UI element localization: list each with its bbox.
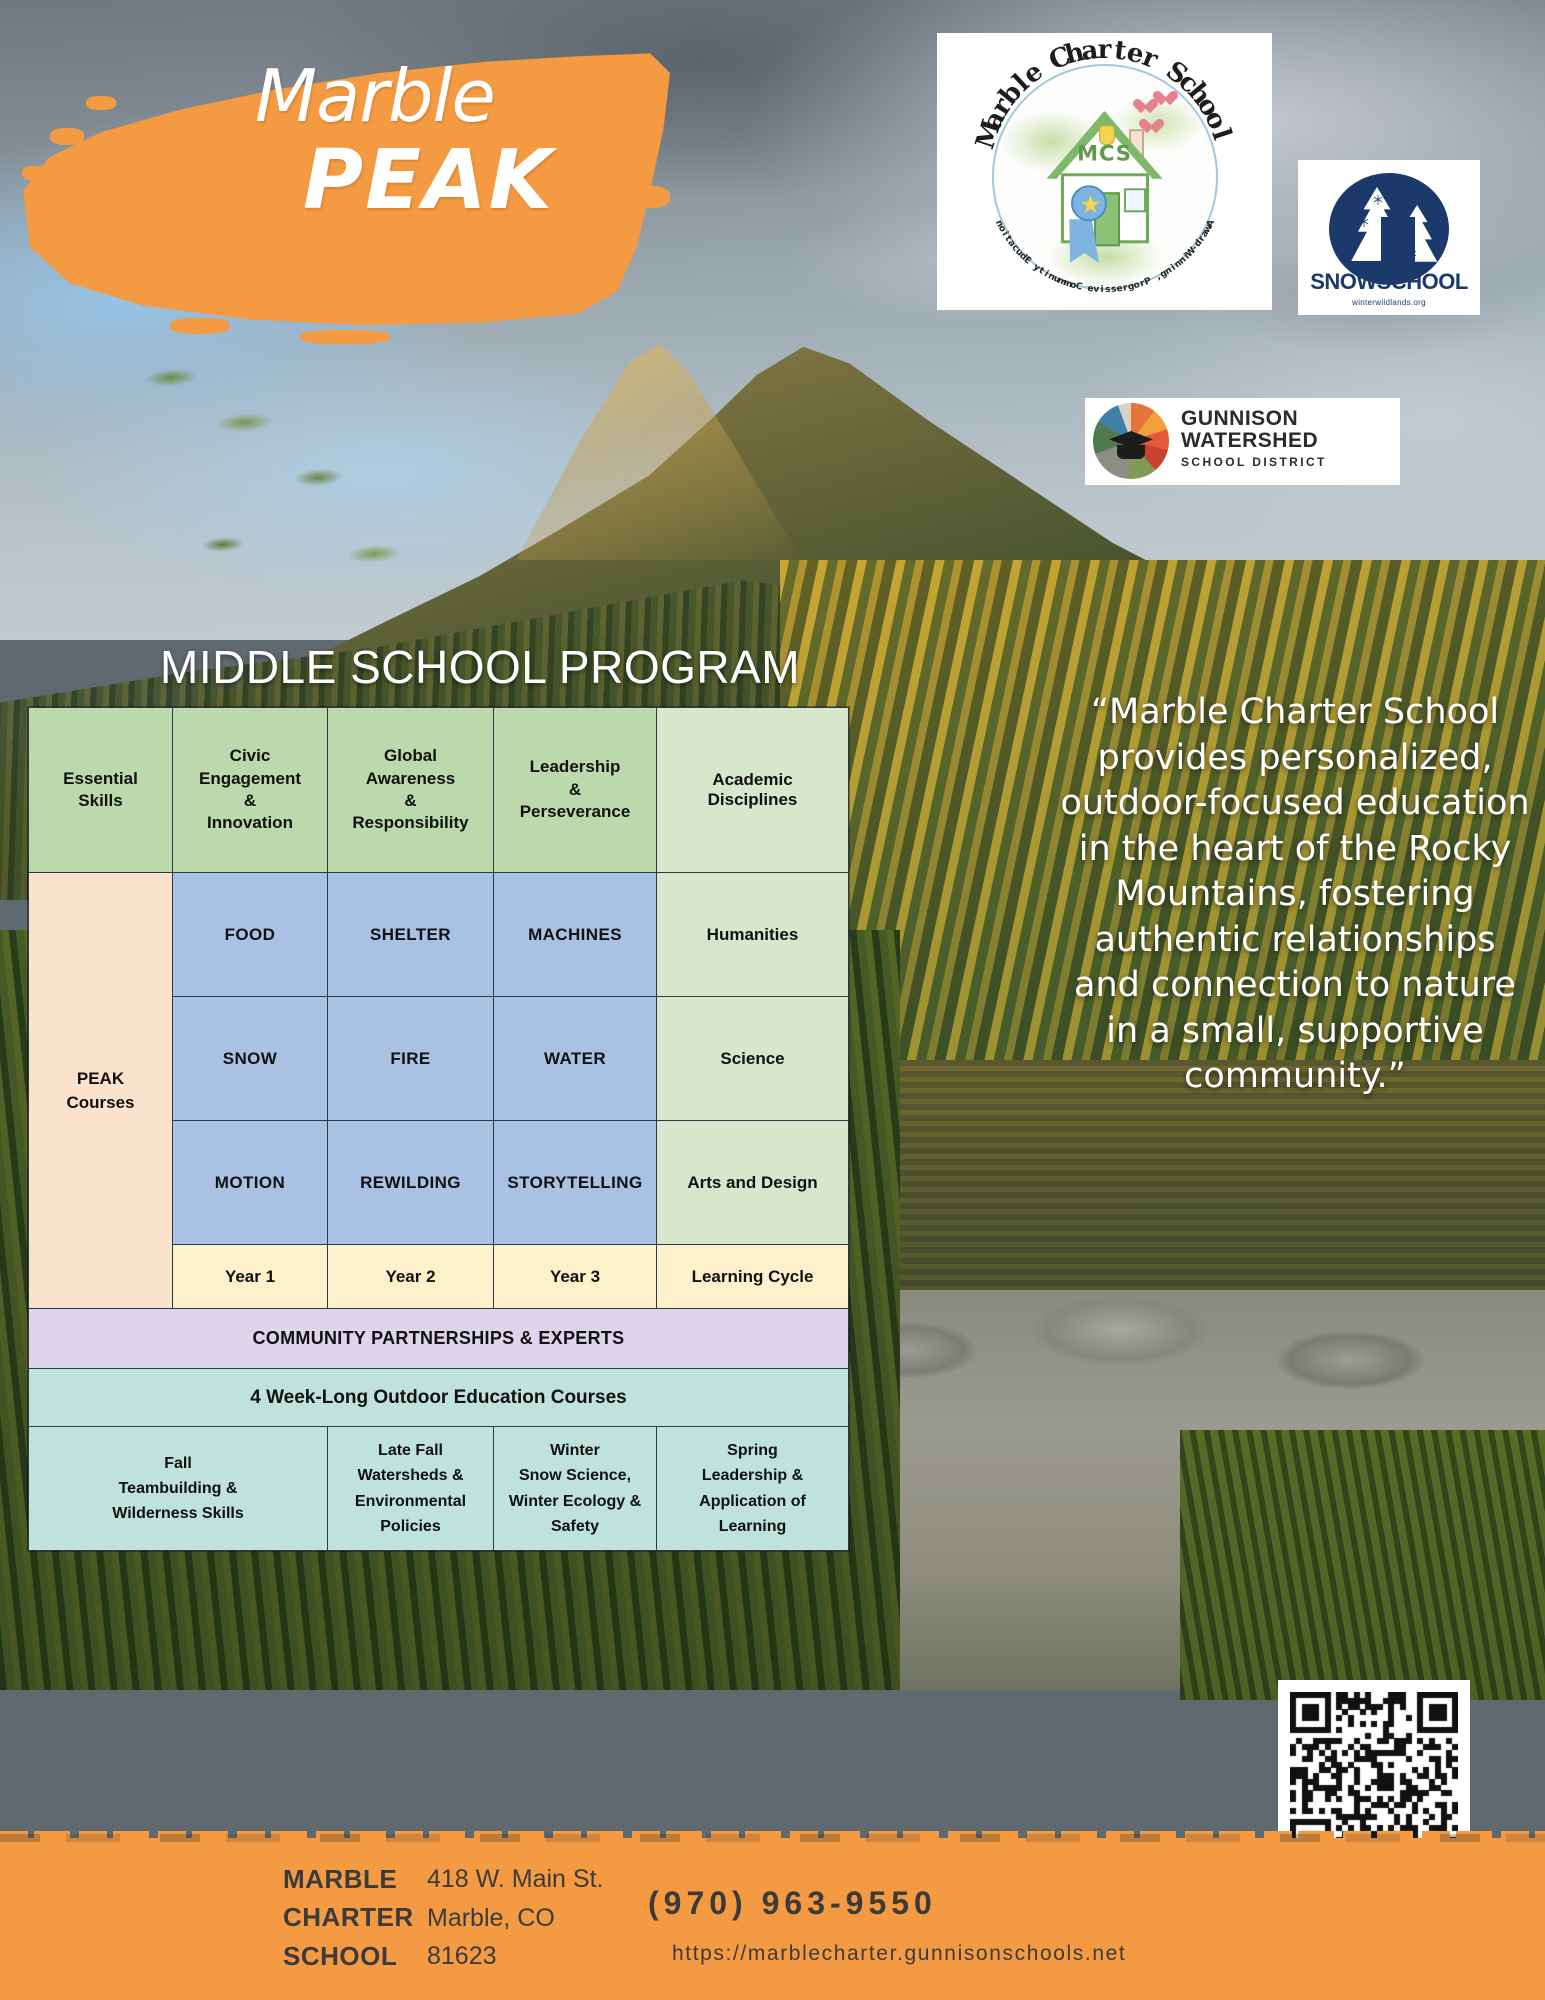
footer-address-line1: 418 W. Main St. [427, 1860, 603, 1899]
footer-url[interactable]: https://marblecharter.gunnisonschools.ne… [672, 1942, 1126, 1966]
course-cell-water: WATER [494, 997, 657, 1121]
brush-speck [86, 96, 116, 110]
course-cell-shelter: SHELTER [328, 873, 494, 997]
season-cell-winter: WinterSnow Science,Winter Ecology &Safet… [494, 1427, 657, 1551]
header-global-awareness: GlobalAwareness&Responsibility [328, 708, 494, 873]
header-civic-engagement: CivicEngagement&Innovation [173, 708, 328, 873]
table-row-outdoor: 4 Week-Long Outdoor Education Courses [29, 1369, 849, 1427]
poster-canvas: Marble PEAK MCS [0, 0, 1545, 2000]
peak-courses-label: PEAKCourses [29, 873, 173, 1309]
brush-speck [170, 318, 230, 334]
brush-speck [300, 330, 390, 344]
brush-speck [22, 166, 48, 180]
table-row: PEAKCourses FOOD SHELTER MACHINES Humani… [29, 873, 849, 997]
header-leadership: Leadership&Perseverance [494, 708, 657, 873]
footer-school-name-line3: SCHOOL [283, 1937, 414, 1975]
mcs-arc-bottom-text: Award-Winning, Progressive Community Edu… [943, 39, 1266, 304]
discipline-cell-humanities: Humanities [657, 873, 849, 997]
year-cell-1: Year 1 [173, 1245, 328, 1309]
footer-phone[interactable]: (970) 963-9550 [648, 1885, 937, 1922]
foreground-branch [109, 319, 462, 681]
season-cell-fall: FallTeambuilding &Wilderness Skills [29, 1427, 328, 1551]
course-cell-rewilding: REWILDING [328, 1121, 494, 1245]
poster-title: Marble PEAK [255, 60, 675, 223]
footer-address-line2: Marble, CO [427, 1899, 603, 1938]
gunnison-watershed-logo: GUNNISON WATERSHED SCHOOL DISTRICT [1085, 398, 1400, 485]
program-heading: MIDDLE SCHOOL PROGRAM [160, 640, 800, 694]
brush-speck [50, 128, 84, 145]
year-cell-2: Year 2 [328, 1245, 494, 1309]
qr-code-icon[interactable] [1290, 1692, 1458, 1853]
poster-title-line2: PEAK [303, 139, 675, 223]
course-cell-fire: FIRE [328, 997, 494, 1121]
poster-title-line1: Marble [255, 54, 495, 138]
table-row-partnerships: COMMUNITY PARTNERSHIPS & EXPERTS [29, 1309, 849, 1369]
snowschool-logo: SNOWSCHOOL winterwildlands.org [1298, 160, 1480, 315]
learning-cycle-cell: Learning Cycle [657, 1245, 849, 1309]
gunnison-line2: WATERSHED [1181, 430, 1327, 452]
footer-address-line3: 81623 [427, 1937, 603, 1976]
marble-charter-school-logo: MCS Marble Charter School Award-Winning,… [937, 33, 1272, 310]
outdoor-courses-banner: 4 Week-Long Outdoor Education Courses [29, 1369, 849, 1427]
course-cell-machines: MACHINES [494, 873, 657, 997]
snowflake-icon [1347, 237, 1357, 247]
gunnison-emblem-icon [1093, 403, 1169, 479]
snowschool-url: winterwildlands.org [1298, 298, 1480, 307]
season-cell-spring: SpringLeadership &Application ofLearning [657, 1427, 849, 1551]
table-header-row: EssentialSkills CivicEngagement&Innovati… [29, 708, 849, 873]
course-cell-motion: MOTION [173, 1121, 328, 1245]
gunnison-line1: GUNNISON [1181, 408, 1327, 430]
course-cell-snow: SNOW [173, 997, 328, 1121]
snowschool-wordmark: SNOWSCHOOL [1298, 269, 1480, 295]
gunnison-line3: SCHOOL DISTRICT [1181, 455, 1327, 469]
footer-school-name-line1: MARBLE [283, 1860, 414, 1898]
graduation-cap-base-icon [1117, 445, 1145, 459]
header-academic-disciplines: AcademicDisciplines [657, 708, 849, 873]
footer-school-name-line2: CHARTER [283, 1898, 414, 1936]
season-cell-late-fall: Late FallWatersheds &EnvironmentalPolici… [328, 1427, 494, 1551]
foreground-grass-right [1180, 1430, 1545, 1700]
program-matrix-table: EssentialSkills CivicEngagement&Innovati… [28, 707, 849, 1551]
course-cell-food: FOOD [173, 873, 328, 997]
pull-quote: “Marble Charter School provides personal… [1060, 690, 1530, 1100]
footer-address: 418 W. Main St. Marble, CO 81623 [427, 1860, 603, 1976]
discipline-cell-science: Science [657, 997, 849, 1121]
header-essential-skills: EssentialSkills [29, 708, 173, 873]
snowshoer-icon [1381, 217, 1415, 269]
footer-school-name: MARBLE CHARTER SCHOOL [283, 1860, 414, 1975]
year-cell-3: Year 3 [494, 1245, 657, 1309]
community-partnerships-banner: COMMUNITY PARTNERSHIPS & EXPERTS [29, 1309, 849, 1369]
discipline-cell-arts-and-design: Arts and Design [657, 1121, 849, 1245]
table-row-seasons: FallTeambuilding &Wilderness Skills Late… [29, 1427, 849, 1551]
course-cell-storytelling: STORYTELLING [494, 1121, 657, 1245]
